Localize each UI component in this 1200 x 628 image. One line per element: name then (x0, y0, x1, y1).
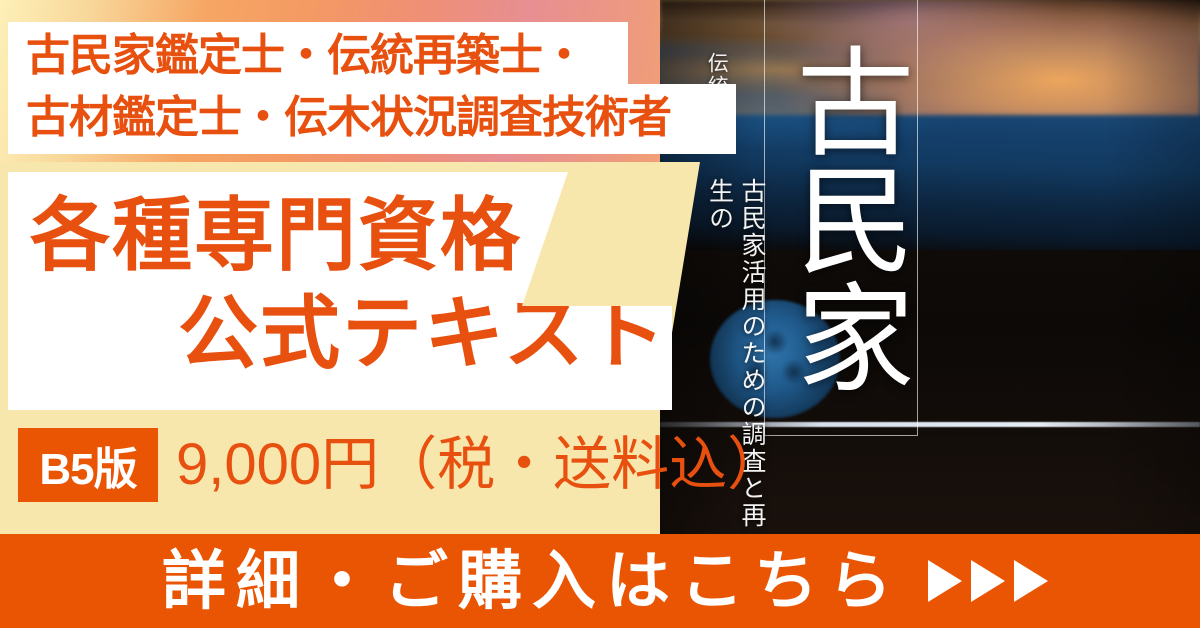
headline-line-2: 公式テキスト (178, 294, 668, 374)
qualifications-panel: 古民家鑑定士・伝統再築士・ 古材鑑定士・伝木状況調査技術者 (8, 22, 736, 154)
cta-label: 詳細・ご購入はこちら (152, 549, 902, 613)
chevron-right-icon (971, 560, 1005, 602)
chevron-right-icon (928, 560, 962, 602)
qualification-line-1: 古民家鑑定士・伝統再築士・ (26, 34, 585, 78)
cover-title: 古民家 (770, 8, 912, 428)
cta-bar[interactable]: 詳細・ご購入はこちら (0, 534, 1200, 628)
qualification-line-2: 古材鑑定士・伝木状況調査技術者 (26, 96, 671, 140)
headline-line-1: 各種専門資格 (30, 196, 522, 276)
price-row: B5版 9,000円（税・送料込） (0, 424, 700, 510)
cta-arrows (928, 560, 1048, 602)
price-amount: 9,000円（税・送料込） (176, 432, 785, 498)
banner-root: 古民家 伝統構法 古民家活用のための調査と再生の 古民家鑑定士・伝統再築士・ 古… (0, 0, 1200, 628)
format-badge: B5版 (18, 428, 158, 502)
chevron-right-icon (1014, 560, 1048, 602)
